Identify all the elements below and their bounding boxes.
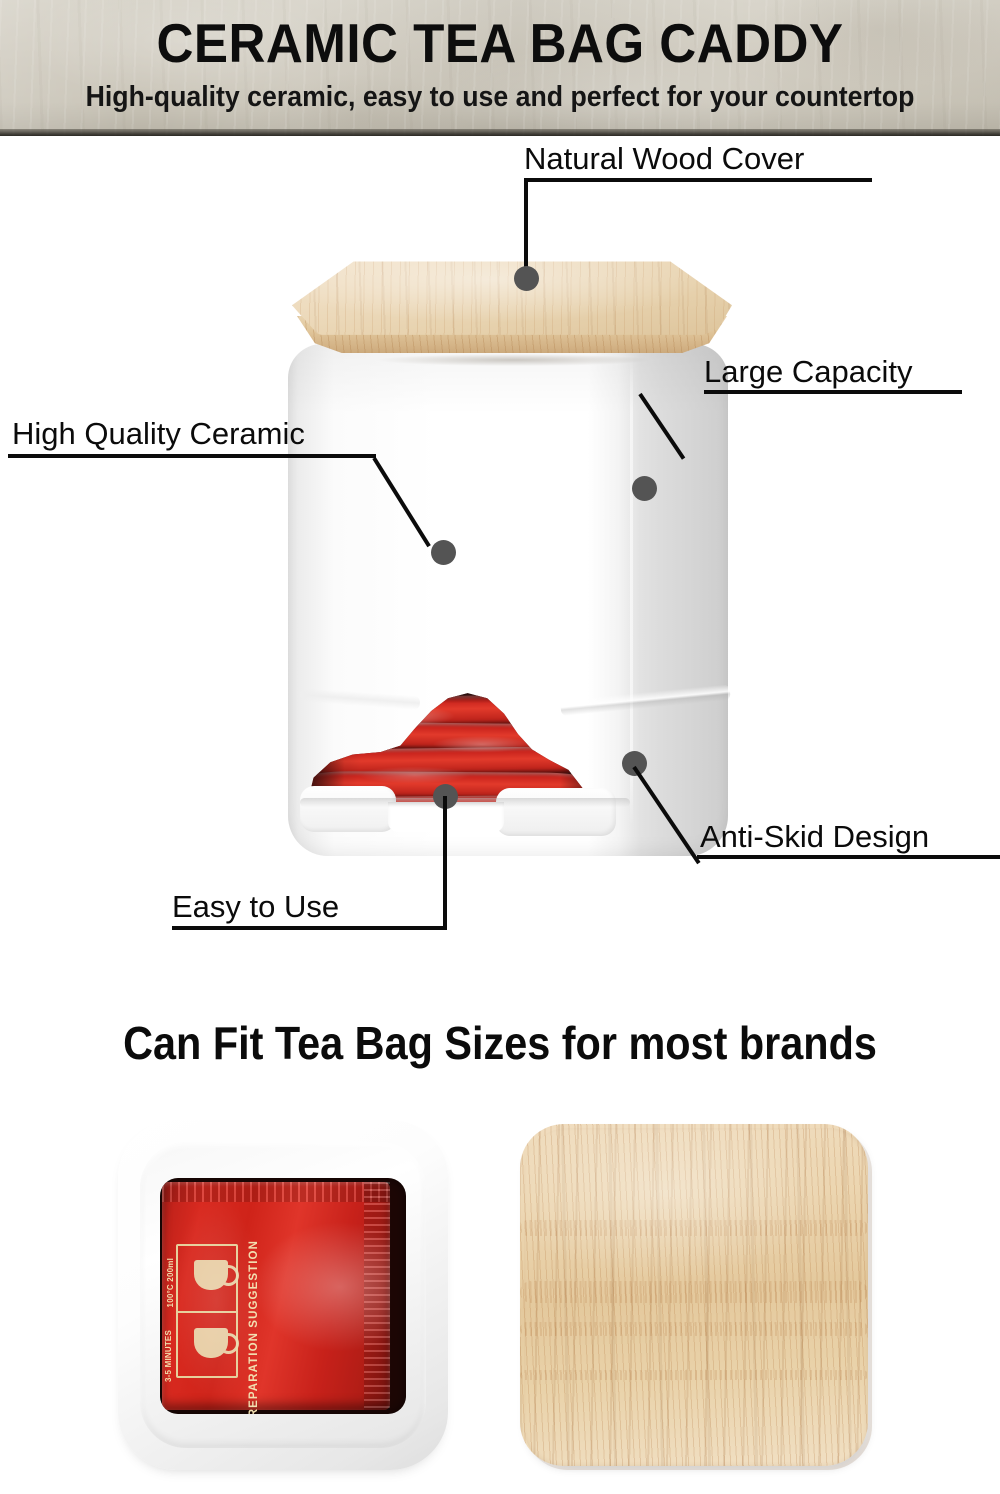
packet-side-crimp [364, 1182, 390, 1410]
preparation-box-divider [176, 1311, 238, 1313]
callout-label-easy-to-use: Easy to Use [172, 890, 339, 924]
caddy-interior: 100°C 200ml 3-5 MINUTES PREPARATION SUGG… [160, 1178, 406, 1414]
preparation-icon-box [176, 1244, 238, 1378]
callout-label-large-capacity: Large Capacity [704, 355, 913, 389]
callout-label-high-quality-ceramic: High Quality Ceramic [12, 417, 305, 451]
hero-product-stage: Natural Wood Cover Large Capacity High Q… [0, 136, 1000, 996]
infographic-page: CERAMIC TEA BAG CADDY High-quality ceram… [0, 0, 1000, 1494]
tea-bag-packet-photo: 100°C 200ml 3-5 MINUTES PREPARATION SUGG… [162, 1182, 390, 1410]
leader-underline-easy-to-use [172, 926, 447, 930]
leader-stem-easy-to-use [443, 796, 447, 930]
leader-underline-natural-wood-cover [524, 178, 872, 182]
packet-top-crimp [162, 1182, 390, 1202]
page-title: CERAMIC TEA BAG CADDY [35, 14, 965, 72]
page-subtitle: High-quality ceramic, easy to use and pe… [40, 80, 960, 114]
header-bottom-edge [0, 129, 1000, 136]
anti-skid-foot-left [300, 786, 396, 832]
wood-lid [270, 260, 750, 380]
packet-preparation-suggestion-text: PREPARATION SUGGESTION [248, 1240, 260, 1414]
leader-stem-natural-wood-cover [524, 178, 528, 274]
wood-grain-band [520, 1281, 868, 1303]
teacup-icon [194, 1328, 228, 1358]
base-edge-line [300, 798, 630, 807]
callout-dot-large-capacity [632, 476, 657, 501]
callout-label-anti-skid-design: Anti-Skid Design [700, 820, 929, 854]
anti-skid-foot-right [496, 788, 616, 836]
wood-lid-top-view-photo [520, 1124, 868, 1466]
leader-underline-anti-skid-design [697, 855, 1000, 859]
callout-dot-natural-wood-cover [514, 266, 539, 291]
wood-lid-contact-shadow [330, 352, 698, 368]
teacup-icon [194, 1260, 228, 1290]
packet-temperature-text: 100°C 200ml [166, 1258, 175, 1307]
callout-dot-high-quality-ceramic [431, 540, 456, 565]
leader-underline-large-capacity [704, 390, 962, 394]
caddy-top-view-photo: 100°C 200ml 3-5 MINUTES PREPARATION SUGG… [118, 1120, 448, 1470]
callout-label-natural-wood-cover: Natural Wood Cover [524, 142, 804, 176]
fit-section-heading: Can Fit Tea Bag Sizes for most brands [50, 1017, 950, 1069]
wood-lid-top-surface [292, 260, 732, 338]
leader-underline-high-quality-ceramic [8, 454, 376, 458]
wood-grain-band [520, 1220, 868, 1236]
wood-grain-band [520, 1370, 868, 1380]
wood-grain-band [520, 1322, 868, 1336]
packet-steep-time-text: 3-5 MINUTES [164, 1330, 173, 1382]
